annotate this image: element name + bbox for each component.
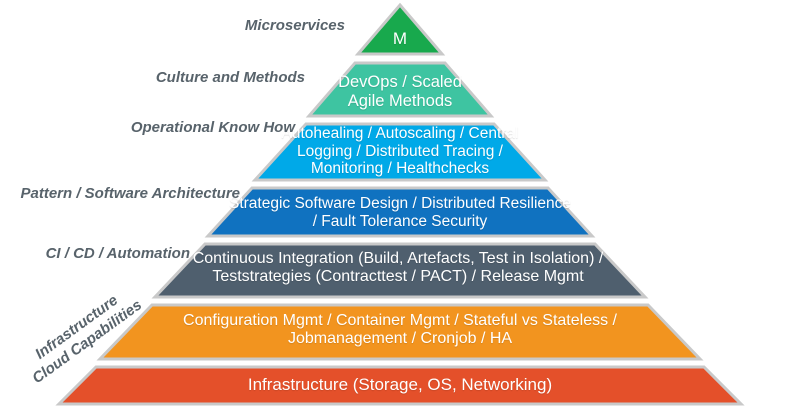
tier-shape-infrastructure-cloud[interactable]	[100, 305, 700, 359]
tier-shape-infrastructure-base[interactable]	[59, 367, 741, 404]
side-label-operational: Operational Know How	[60, 119, 295, 137]
pyramid-shapes	[0, 0, 797, 410]
tier-shape-microservices[interactable]	[358, 5, 442, 54]
side-label-pattern: Pattern / Software Architecture	[0, 185, 240, 203]
tier-shape-ci-cd[interactable]	[155, 244, 645, 297]
tier-shape-operational[interactable]	[255, 124, 545, 180]
tier-shape-culture[interactable]	[309, 63, 491, 116]
pyramid-diagram-canvas: M DevOps / Scaled Agile Methods Autoheal…	[0, 0, 797, 410]
tier-shape-pattern[interactable]	[208, 188, 592, 236]
side-label-culture: Culture and Methods	[110, 69, 305, 87]
side-label-microservices: Microservices	[150, 17, 345, 35]
side-label-ci-cd: CI / CD / Automation	[0, 245, 190, 263]
